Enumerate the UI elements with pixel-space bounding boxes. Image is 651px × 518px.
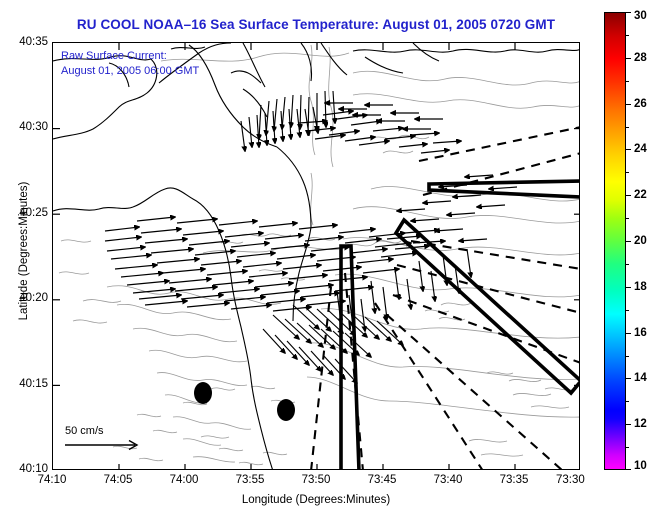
colorbar-tick-label: 22 (634, 189, 647, 201)
page-title: RU COOL NOAA–16 Sea Surface Temperature:… (0, 17, 632, 32)
sst-map-figure: RU COOL NOAA–16 Sea Surface Temperature:… (0, 0, 651, 518)
station-marker (194, 382, 212, 404)
xtick-label: 74:05 (94, 474, 142, 486)
colorbar-tick-label: 16 (634, 327, 647, 339)
scale-bar-label: 50 cm/s (63, 425, 183, 437)
xtick-label: 73:35 (490, 474, 538, 486)
colorbar-tick-label: 30 (634, 10, 647, 22)
colorbar: 30 28 26 24 22 20 18 16 14 12 10 (604, 12, 626, 470)
colorbar-tick-label: 18 (634, 281, 647, 293)
colorbar-tick-label: 26 (634, 98, 647, 110)
xtick-label: 73:45 (358, 474, 406, 486)
colorbar-tick-label: 10 (634, 460, 647, 472)
station-marker (277, 399, 295, 421)
map-graphics (53, 43, 580, 470)
xtick-label: 74:10 (28, 474, 76, 486)
xtick-label: 73:40 (424, 474, 472, 486)
ytick-label: 40:35 (2, 36, 48, 48)
right-arrow-icon (63, 438, 145, 452)
colorbar-tick-label: 12 (634, 418, 647, 430)
x-axis-title: Longitude (Degrees:Minutes) (52, 494, 580, 506)
xtick-label: 73:55 (226, 474, 274, 486)
annotation-text: Raw Surface Current: August 01, 2005 06:… (61, 49, 199, 79)
colorbar-gradient (604, 12, 626, 470)
ytick-label: 40:15 (2, 378, 48, 390)
colorbar-tick-label: 28 (634, 52, 647, 64)
annotation-line-2: August 01, 2005 06:00 GMT (61, 64, 199, 79)
station-markers (194, 382, 295, 421)
colorbar-tick-label: 20 (634, 235, 647, 247)
colorbar-tick-label: 14 (634, 372, 647, 384)
colorbar-tick-label: 24 (634, 143, 647, 155)
surface-current-vectors (105, 91, 517, 383)
xtick-label: 73:30 (556, 474, 596, 486)
ytick-label: 40:10 (2, 463, 48, 475)
annotation-line-1: Raw Surface Current: (61, 49, 199, 64)
xtick-label: 74:00 (160, 474, 208, 486)
xtick-label: 73:50 (292, 474, 340, 486)
scale-bar: 50 cm/s (63, 425, 183, 457)
ytick-label: 40:30 (2, 121, 48, 133)
y-axis-title: Latitude (Degrees:Minutes) (18, 141, 30, 361)
survey-wedges (341, 181, 580, 470)
map-plot-area[interactable]: Raw Surface Current: August 01, 2005 06:… (52, 42, 580, 470)
